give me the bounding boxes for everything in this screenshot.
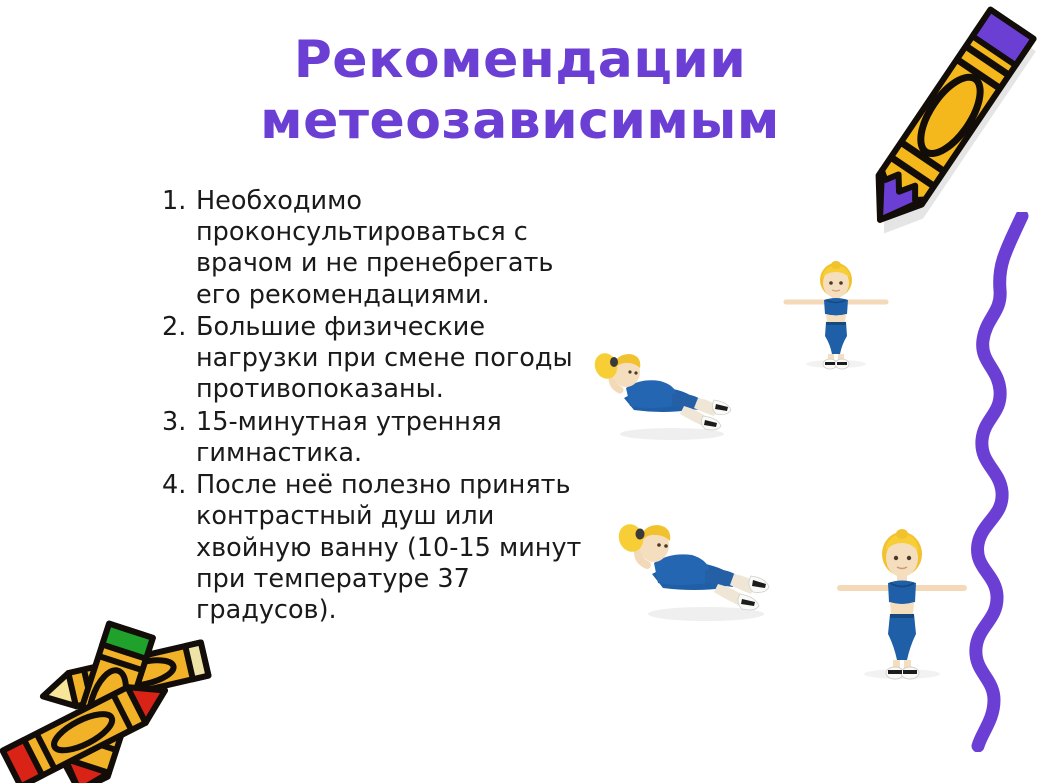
list-item: 3. 15-минутная утренняя гимнастика.: [162, 407, 582, 469]
slide-canvas: Рекомендации метеозависимым 1. Необходим…: [0, 0, 1044, 783]
list-item-text: После неё полезно принять контрастный ду…: [196, 470, 582, 626]
list-item: 2. Большие физические нагрузки при смене…: [162, 312, 582, 406]
girl-arms-out-upper-image: [776, 258, 896, 370]
list-item-marker: 1.: [162, 186, 196, 217]
girl-doing-situps-upper-image: [590, 336, 740, 446]
page-title-line-1: Рекомендации: [150, 34, 890, 87]
list-item-text: Необходимо проконсультироваться с врачом…: [196, 186, 582, 311]
list-item: 4. После неё полезно принять контрастный…: [162, 470, 582, 626]
crayon-cluster-icon: [0, 604, 234, 783]
list-item-text: Большие физические нагрузки при смене по…: [196, 312, 582, 406]
list-item-marker: 2.: [162, 312, 196, 343]
page-title-line-2: метеозависимым: [150, 95, 890, 148]
list-item-marker: 3.: [162, 407, 196, 438]
page-title: Рекомендации метеозависимым: [150, 34, 890, 148]
recommendations-list: 1. Необходимо проконсультироваться с вра…: [162, 186, 582, 627]
list-item: 1. Необходимо проконсультироваться с вра…: [162, 186, 582, 311]
list-item-marker: 4.: [162, 470, 196, 501]
girl-doing-situps-lower-image: [614, 506, 780, 626]
list-item-text: 15-минутная утренняя гимнастика.: [196, 407, 582, 469]
girl-arms-out-lower-image: [834, 522, 970, 682]
